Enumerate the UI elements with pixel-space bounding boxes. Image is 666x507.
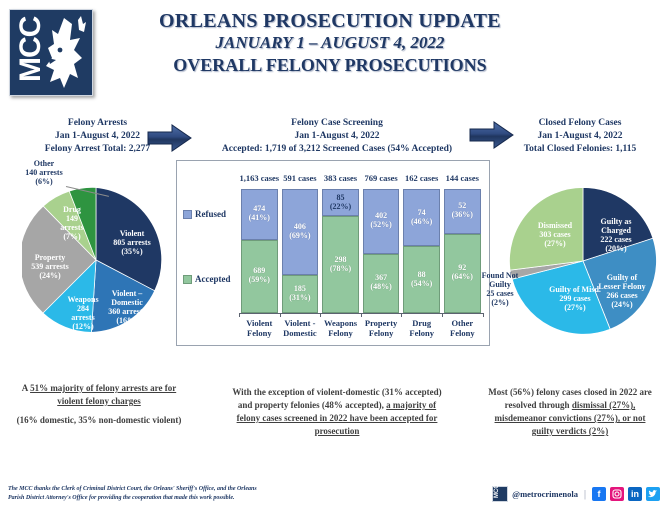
- title-line-1: ORLEANS PROSECUTION UPDATE: [100, 10, 560, 32]
- x-label-property-felony: PropertyFelony: [361, 319, 402, 339]
- bar-segment-accepted-other-felony: 92(64%): [444, 234, 481, 313]
- footer-acknowledgement: The MCC thanks the Clerk of Criminal Dis…: [8, 485, 308, 502]
- callout-arrests: A 51% majority of felony arrests are for…: [14, 382, 184, 427]
- axis-tick: [239, 313, 240, 317]
- axis-tick: [401, 313, 402, 317]
- bar-column-drug-felony: 162 cases 74(46%) 88(54%): [401, 189, 442, 313]
- bar-value-refused-weapons-felony: 85(22%): [330, 194, 351, 212]
- pie-label-guilty-as-charged: Guilty asCharged222 cases(20%): [588, 218, 644, 254]
- bar-value-accepted-property-felony: 367(48%): [370, 274, 391, 292]
- bar-column-violent-felony: 1,163 cases 474(41%) 689(59%): [239, 189, 280, 313]
- legend-item-accepted: Accepted: [183, 274, 231, 284]
- bar-column-property-felony: 769 cases 402(52%) 367(48%): [361, 189, 402, 313]
- callout-screening: With the exception of violent-domestic (…: [232, 386, 442, 438]
- screening-heading-line-1: Felony Case Screening: [192, 117, 482, 130]
- x-label-weapons-felony: WeaponsFelony: [320, 319, 361, 339]
- closed-felony-cases-pie-chart: Guilty asCharged222 cases(20%) Guilty of…: [508, 186, 658, 336]
- bar-value-refused-other-felony: 52(36%): [452, 202, 473, 220]
- social-divider: |: [584, 489, 586, 500]
- bar-value-refused-drug-felony: 74(46%): [411, 209, 432, 227]
- pie-label-property: Property539 arrests(24%): [19, 254, 81, 281]
- bar-segment-refused-property-felony: 402(52%): [363, 189, 400, 254]
- social-handle: @metrocrimenola: [512, 489, 578, 499]
- bar-plot-area: 1,163 cases 474(41%) 689(59%) 591 cases …: [239, 189, 483, 313]
- pie-label-violent: Violent805 arrests(35%): [100, 230, 164, 257]
- bar-total-weapons-felony: 383 cases: [320, 173, 361, 183]
- title-line-3: OVERALL FELONY PROSECUTIONS: [100, 55, 560, 76]
- bar-total-violent-domestic: 591 cases: [280, 173, 321, 183]
- x-label-violent-felony: ViolentFelony: [239, 319, 280, 339]
- bar-value-refused-property-felony: 402(52%): [370, 212, 391, 230]
- bar-value-refused-violent-felony: 474(41%): [249, 205, 270, 223]
- linkedin-icon[interactable]: in: [628, 487, 642, 501]
- callout-left-pre: A: [22, 383, 30, 393]
- bar-segment-accepted-property-felony: 367(48%): [363, 254, 400, 314]
- screening-section-heading: Felony Case Screening Jan 1-August 4, 20…: [192, 117, 482, 155]
- screening-heading-line-3: Accepted: 1,719 of 3,212 Screened Cases …: [192, 143, 482, 156]
- bar-total-other-felony: 144 cases: [442, 173, 483, 183]
- bar-column-weapons-felony: 383 cases 85(22%) 298(78%): [320, 189, 361, 313]
- bar-total-property-felony: 769 cases: [361, 173, 402, 183]
- pie-label-guilty-of-misd: Guilty of Misd.299 cases(27%): [542, 286, 608, 313]
- x-label-violent-domestic: Violent -Domestic: [280, 319, 321, 339]
- axis-tick: [361, 313, 362, 317]
- bar-segment-refused-weapons-felony: 85(22%): [322, 189, 359, 216]
- mcc-mini-logo-icon: MCC: [492, 486, 508, 502]
- axis-tick: [280, 313, 281, 317]
- axis-tick: [483, 313, 484, 317]
- callout-left-emph: 51% majority of felony arrests are for v…: [30, 383, 176, 406]
- bar-segment-accepted-violent-domestic: 185(31%): [282, 275, 319, 313]
- axis-tick: [320, 313, 321, 317]
- bar-value-accepted-drug-felony: 88(54%): [411, 271, 432, 289]
- footer-note-line-1: The MCC thanks the Clerk of Criminal Dis…: [8, 485, 308, 494]
- bar-segment-accepted-violent-felony: 689(59%): [241, 240, 278, 313]
- bar-value-accepted-weapons-felony: 298(78%): [330, 256, 351, 274]
- mcc-logo: MCC: [9, 9, 93, 96]
- callout-left-sub: (16% domestic, 35% non-domestic violent): [14, 414, 184, 427]
- closed-heading-line-3: Total Closed Felonies: 1,115: [500, 143, 660, 156]
- legend-swatch-refused: [183, 210, 192, 219]
- pie-label-found-not-guilty: Found NotGuilty25 cases(2%): [477, 272, 523, 308]
- flow-arrow-right: [468, 119, 516, 151]
- twitter-icon[interactable]: [646, 487, 660, 501]
- legend-swatch-accepted: [183, 275, 192, 284]
- social-bar: MCC @metrocrimenola | f in: [492, 486, 660, 502]
- closed-heading-line-2: Jan 1-August 4, 2022: [500, 130, 660, 143]
- legend-item-refused: Refused: [183, 209, 226, 219]
- bar-segment-accepted-drug-felony: 88(54%): [403, 246, 440, 313]
- bar-value-accepted-other-felony: 92(64%): [452, 264, 473, 282]
- footer-note-line-2: Parish District Attorney's Office for pr…: [8, 494, 308, 503]
- bar-total-drug-felony: 162 cases: [401, 173, 442, 183]
- pie-label-weapons: Weapons284arrests(12%): [62, 296, 104, 332]
- screening-heading-line-2: Jan 1-August 4, 2022: [192, 130, 482, 143]
- facebook-icon[interactable]: f: [592, 487, 606, 501]
- axis-tick: [442, 313, 443, 317]
- bar-segment-refused-violent-felony: 474(41%): [241, 189, 278, 240]
- callout-closed: Most (56%) felony cases closed in 2022 a…: [484, 386, 656, 438]
- bar-total-violent-felony: 1,163 cases: [239, 173, 280, 183]
- pie-label-dismissed: Dismissed303 cases(27%): [526, 222, 584, 249]
- bar-segment-refused-violent-domestic: 406(69%): [282, 189, 319, 275]
- legend-label-accepted: Accepted: [195, 274, 231, 284]
- bar-segment-refused-other-felony: 52(36%): [444, 189, 481, 234]
- flow-arrow-left: [146, 122, 194, 154]
- x-label-drug-felony: DrugFelony: [401, 319, 442, 339]
- bar-value-accepted-violent-felony: 689(59%): [249, 267, 270, 285]
- title-line-2: JANUARY 1 – AUGUST 4, 2022: [100, 33, 560, 53]
- felony-arrests-pie-chart: Violent805 arrests(35%) Violent –Domesti…: [22, 186, 170, 334]
- pie-label-violent-domestic: Violent –Domestic360 arrests(16%): [96, 290, 158, 326]
- infographic-page: MCC ORLEANS PROSECUTION UPDATE JANUARY 1…: [0, 0, 666, 507]
- wolf-head-icon: [34, 14, 90, 94]
- x-label-other-felony: OtherFelony: [442, 319, 483, 339]
- bar-value-accepted-violent-domestic: 185(31%): [289, 285, 310, 303]
- bar-column-violent-domestic: 591 cases 406(69%) 185(31%): [280, 189, 321, 313]
- page-title: ORLEANS PROSECUTION UPDATE JANUARY 1 – A…: [100, 10, 560, 76]
- legend-label-refused: Refused: [195, 209, 226, 219]
- bar-value-refused-violent-domestic: 406(69%): [289, 223, 310, 241]
- closed-section-heading: Closed Felony Cases Jan 1-August 4, 2022…: [500, 117, 660, 155]
- pie-label-drug: Drug149arrests(7%): [53, 206, 91, 242]
- closed-heading-line-1: Closed Felony Cases: [500, 117, 660, 130]
- bar-segment-refused-drug-felony: 74(46%): [403, 189, 440, 246]
- instagram-icon[interactable]: [610, 487, 624, 501]
- bar-segment-accepted-weapons-felony: 298(78%): [322, 216, 359, 313]
- felony-case-screening-chart: Refused Accepted 1,163 cases 474(41%) 68…: [176, 160, 490, 346]
- pie-label-other: Other140 arrests(6%): [6, 160, 82, 187]
